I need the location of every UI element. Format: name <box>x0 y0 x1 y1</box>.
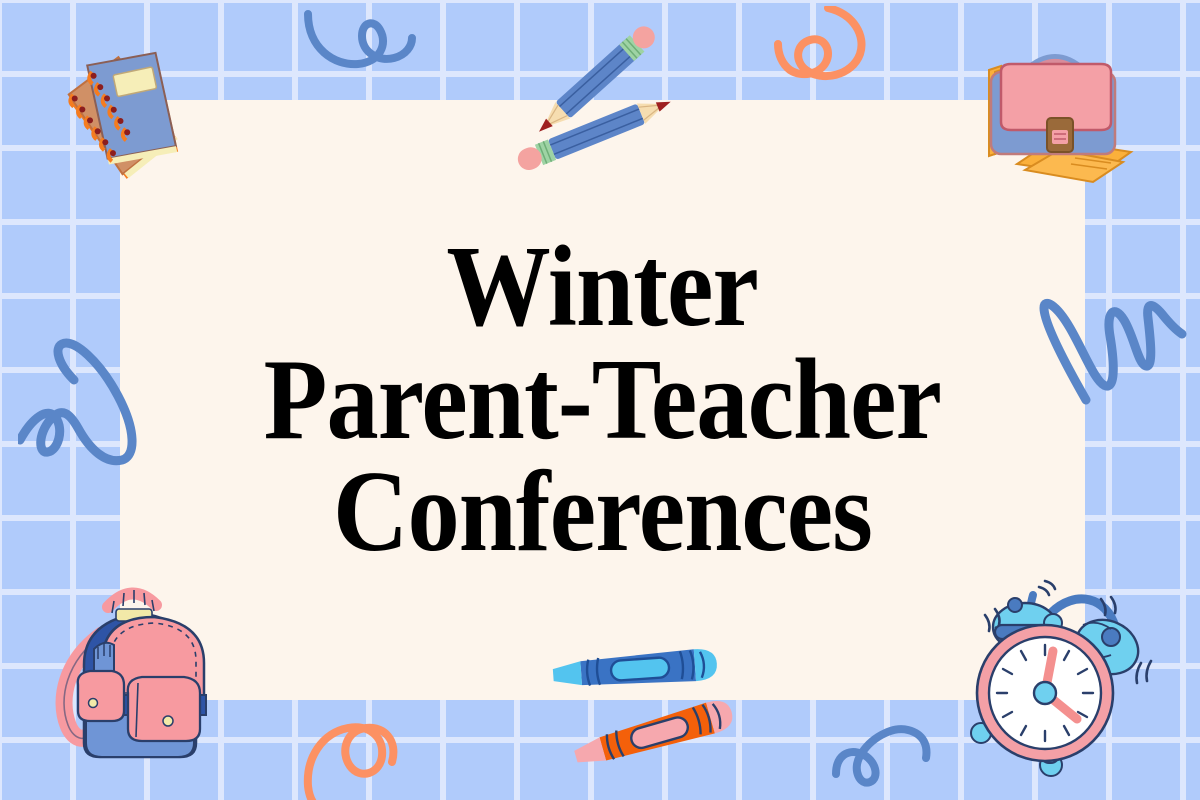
loop-squiggle-top-right-doodle <box>770 6 890 96</box>
zigzag-squiggle-left-doodle <box>18 318 158 478</box>
pencils-illustration <box>510 20 690 170</box>
loop-squiggle-bottom-left-doodle <box>288 702 438 800</box>
backpack-illustration <box>40 565 250 790</box>
alarm-clock-illustration <box>955 575 1175 795</box>
poster-title-line-1: Winter <box>447 231 759 344</box>
loop-squiggle-top-left-doodle <box>300 0 430 80</box>
crayons-illustration <box>545 640 775 770</box>
poster-title-line-3: Conferences <box>333 456 872 569</box>
zigzag-squiggle-right-doodle <box>1022 288 1192 418</box>
loop-squiggle-bottom-right-doodle <box>814 704 964 800</box>
notebooks-illustration <box>46 28 206 188</box>
briefcase-illustration <box>955 30 1155 200</box>
poster-title-line-2: Parent-Teacher <box>264 344 941 457</box>
poster-title-block: Winter Parent-Teacher Conferences <box>120 100 1085 700</box>
poster-canvas: Winter Parent-Teacher Conferences <box>0 0 1200 800</box>
